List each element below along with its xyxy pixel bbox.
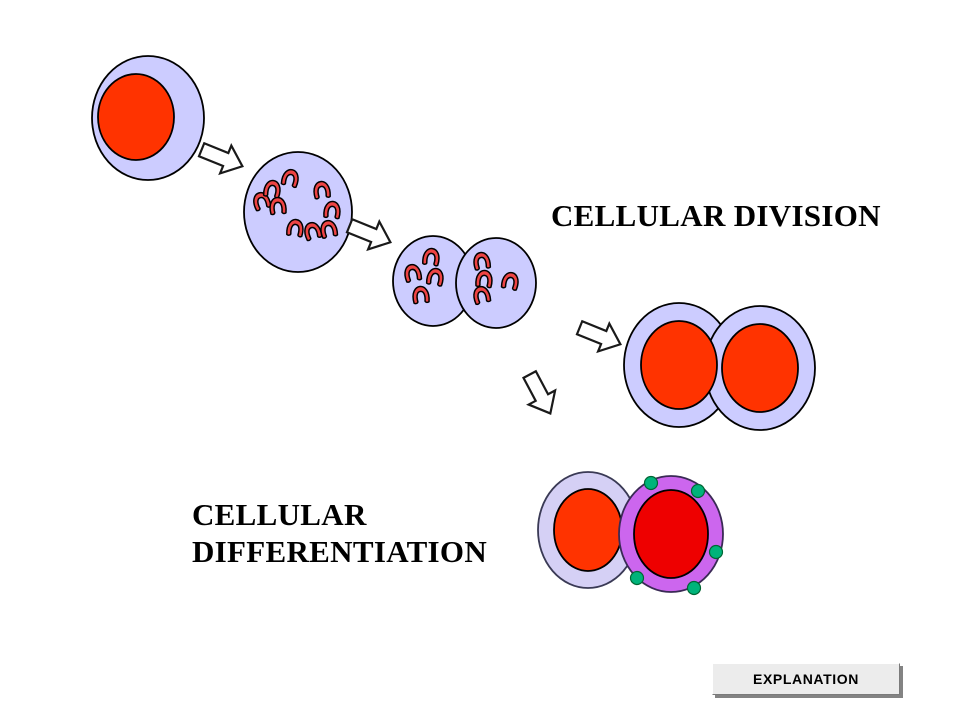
slide-canvas: CELLULAR DIVISION CELLULARDIFFERENTIATIO… (0, 0, 960, 720)
receptor-dot (688, 582, 701, 595)
stage-daughter-cells (624, 303, 815, 430)
receptor-dot (631, 572, 644, 585)
arrow-stage3-to-stage5 (516, 368, 563, 421)
stage-differentiated-pair (538, 472, 723, 595)
stage-condensed-chromosomes (244, 152, 352, 272)
arrow-stage1-to-stage2 (196, 136, 248, 180)
receptor-dot (645, 477, 658, 490)
differentiated-cell-nucleus (634, 490, 708, 578)
cellular-differentiation-label: CELLULARDIFFERENTIATION (192, 497, 487, 570)
arrow-stage3-to-stage4 (574, 314, 626, 358)
receptor-dot (710, 546, 723, 559)
daughter-cell-right-nucleus (722, 324, 798, 412)
explanation-button-label: EXPLANATION (753, 671, 859, 687)
cell-cycle-diagram (0, 0, 960, 720)
cellular-differentiation-label-line1: CELLULAR (192, 497, 367, 532)
cellular-differentiation-label-line2: DIFFERENTIATION (192, 534, 487, 569)
explanation-button[interactable]: EXPLANATION (712, 663, 900, 695)
arrow-stage2-to-stage3 (344, 212, 396, 256)
stage-parent-cell (92, 56, 204, 180)
cellular-division-label: CELLULAR DIVISION (551, 198, 881, 235)
stage-dividing-pair (393, 236, 536, 328)
cell-nucleus (98, 74, 174, 160)
cell-membrane-right (456, 238, 536, 328)
daughter-cell-left-nucleus (641, 321, 717, 409)
receptor-dot (692, 485, 705, 498)
undifferentiated-cell-nucleus (554, 489, 622, 571)
